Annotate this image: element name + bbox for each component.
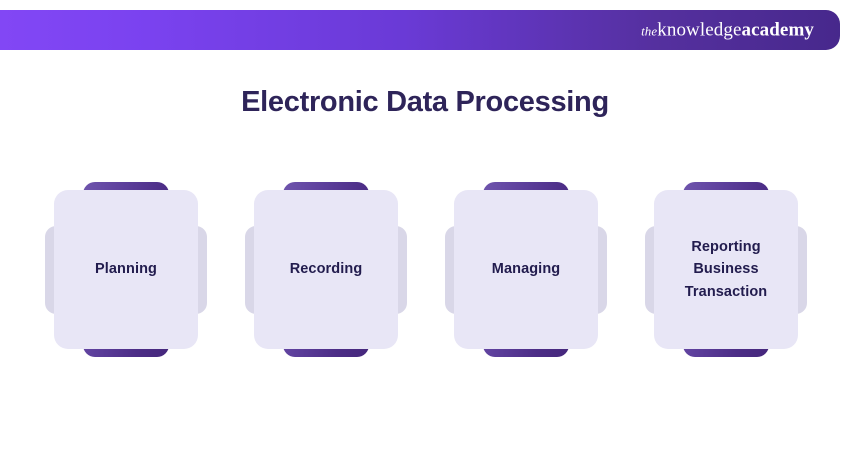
card-face: Reporting Business Transaction <box>654 190 798 349</box>
brand-the-text: the <box>641 24 657 39</box>
card-face: Planning <box>54 190 198 349</box>
card-reporting-business-transaction: Reporting Business Transaction <box>645 182 807 357</box>
card-label: Planning <box>95 258 157 280</box>
card-planning: Planning <box>45 182 207 357</box>
brand-academy-text: academy <box>742 20 814 41</box>
brand-logo: theknowledgeacademy <box>641 21 814 40</box>
card-face: Managing <box>454 190 598 349</box>
brand-knowledge-text: knowledge <box>657 20 741 41</box>
card-label: Reporting Business Transaction <box>685 236 768 303</box>
card-managing: Managing <box>445 182 607 357</box>
cards-row: Planning Recording Managing Reporting Bu… <box>45 182 807 357</box>
card-label: Managing <box>492 258 560 280</box>
card-recording: Recording <box>245 182 407 357</box>
card-label: Recording <box>290 258 363 280</box>
page-title: Electronic Data Processing <box>0 86 850 119</box>
card-face: Recording <box>254 190 398 349</box>
header-bar: theknowledgeacademy <box>0 10 840 50</box>
